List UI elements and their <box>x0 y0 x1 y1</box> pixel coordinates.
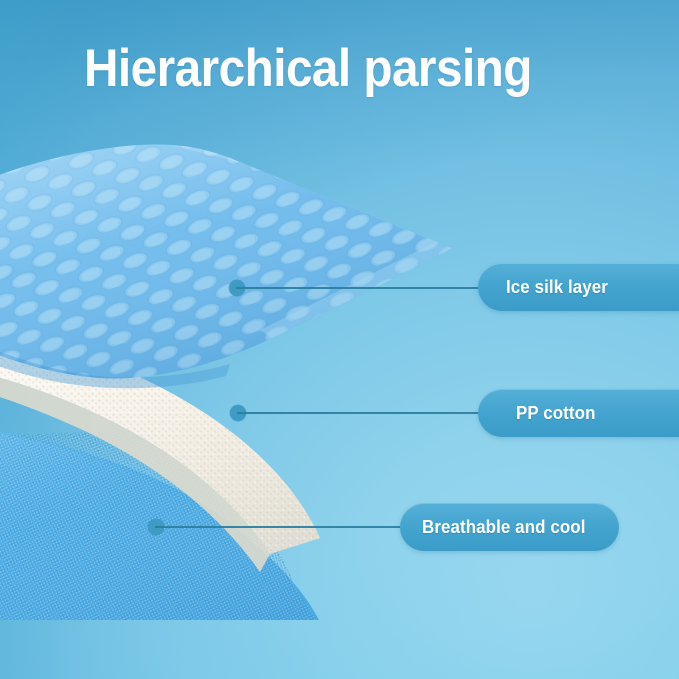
callout-label-ice-silk: Ice silk layer <box>478 263 679 311</box>
callout-label-breathable: Breathable and cool <box>400 503 619 551</box>
callout-leader-line <box>236 287 485 289</box>
infographic-canvas: Hierarchical parsing <box>0 0 679 679</box>
callout-label-text: Breathable and cool <box>422 517 586 538</box>
callout-line-pp-cotton <box>230 404 485 422</box>
page-title: Hierarchical parsing <box>84 41 532 97</box>
callout-leader-line <box>237 412 485 414</box>
callout-label-text: Ice silk layer <box>506 277 608 298</box>
callout-label-text: PP cotton <box>516 403 596 424</box>
callout-line-ice-silk <box>229 279 485 297</box>
callout-label-pp-cotton: PP cotton <box>478 389 679 437</box>
callout-leader-line <box>155 526 408 528</box>
callout-line-breathable <box>148 518 408 536</box>
